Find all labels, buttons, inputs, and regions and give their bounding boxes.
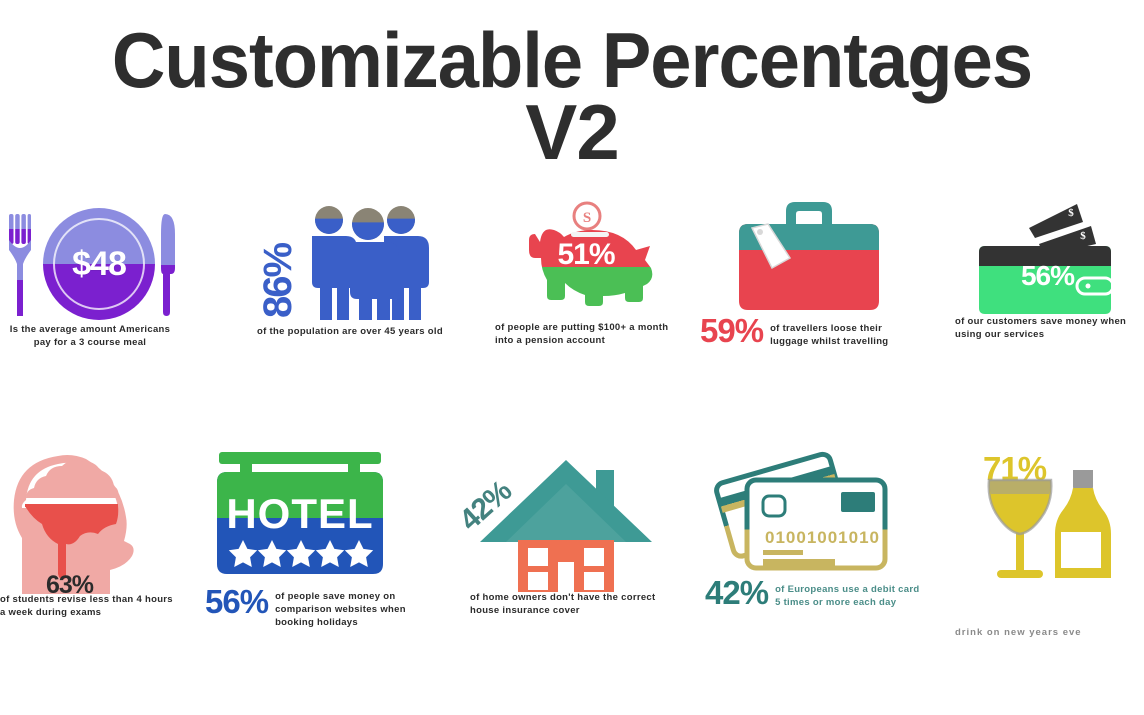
- stat-cell-house[interactable]: 42% of home owners don't have the correc…: [470, 448, 685, 638]
- hotel-sign-text: HOTEL: [226, 490, 373, 537]
- cards-shape: 01001001010: [705, 448, 920, 578]
- piggy-bank-coin-icon: S 51%: [495, 200, 685, 320]
- sign-top-bar: [219, 452, 381, 464]
- infographic-canvas: Customizable Percentages V2 $48: [0, 0, 1144, 715]
- stat-cell-hotel[interactable]: HOTEL 56% of people save money on compar…: [205, 448, 435, 638]
- caption: of travellers loose their luggage whilst…: [770, 314, 910, 349]
- knife-icon: [161, 214, 179, 316]
- caption: of Europeans use a debit card 5 times or…: [775, 576, 925, 610]
- card-digits: 01001001010: [765, 528, 880, 547]
- wallet-banknotes-icon: $ $ 56%: [955, 198, 1135, 318]
- house-roof-windows-icon: 42%: [470, 448, 670, 598]
- drinks-shape: [955, 470, 1144, 605]
- caption: of people are putting $100+ a month into…: [495, 322, 685, 348]
- fork-icon: [9, 214, 31, 316]
- stat-cell-people[interactable]: 86%: [250, 200, 450, 350]
- wallet-shape: $ $: [955, 198, 1135, 318]
- people-value: 86%: [256, 244, 301, 318]
- piggy-slot: [571, 232, 609, 237]
- bottle-label: [1061, 532, 1101, 568]
- stat-cell-head-brain[interactable]: 63% of students revise less than 4 hours…: [0, 448, 190, 638]
- suitcase-handle: [786, 202, 832, 225]
- title-line-1: Customizable Percentages: [29, 24, 1116, 97]
- caption: drink on new years eve: [955, 627, 1144, 640]
- head-profile-brain-icon: 63%: [0, 448, 180, 598]
- card-front: 01001001010: [747, 480, 885, 568]
- cards-value: 42%: [705, 576, 768, 609]
- wine-glass-icon: [989, 480, 1052, 578]
- wallet-value: 56%: [985, 260, 1110, 292]
- coin-icon: S: [574, 203, 600, 229]
- suitcase-luggage-tag-icon: [700, 198, 915, 316]
- house-door: [558, 562, 574, 592]
- stat-cell-wallet[interactable]: $ $ 56% of our customers save money when…: [955, 198, 1144, 348]
- stat-cell-plate[interactable]: $48 Is the average amount Americans pay …: [0, 200, 190, 350]
- caption: of the population are over 45 years old: [250, 326, 450, 339]
- svg-text:$: $: [1068, 207, 1074, 219]
- piggy-value: 51%: [521, 238, 651, 272]
- suitcase-shape: [700, 198, 915, 316]
- three-people-icon: 86%: [250, 200, 450, 320]
- hotel-sign-stars-icon: HOTEL: [205, 448, 405, 583]
- svg-text:S: S: [583, 210, 591, 226]
- hotel-sign-shape: HOTEL: [205, 448, 405, 583]
- caption: Is the average amount Americans pay for …: [0, 324, 180, 350]
- hotel-value: 56%: [205, 585, 268, 618]
- stat-cell-debit-cards[interactable]: 01001001010 42% of Europeans use a debit…: [705, 448, 935, 638]
- stat-cell-suitcase[interactable]: 59% of travellers loose their luggage wh…: [700, 198, 915, 348]
- suitcase-value: 59%: [700, 314, 763, 347]
- plate-fork-knife-icon: $48: [5, 200, 185, 320]
- stat-cell-drinks[interactable]: 71% drink on new years eve: [955, 448, 1144, 638]
- plate-value: $48: [43, 208, 155, 320]
- card-logo-block: [841, 492, 875, 512]
- house-shape: [470, 448, 670, 598]
- stat-cell-piggy-bank[interactable]: S 51% of people are putting $100+ a mont…: [495, 200, 695, 350]
- credit-cards-icon: 01001001010: [705, 448, 920, 578]
- wine-glass-bottle-icon: 71%: [955, 448, 1144, 583]
- head-value: 63%: [46, 571, 93, 600]
- people-figures: [302, 202, 452, 320]
- caption: of people save money on comparison websi…: [275, 585, 415, 629]
- caption: of our customers save money when using o…: [955, 316, 1135, 342]
- svg-text:$: $: [1080, 230, 1086, 242]
- page-title: Customizable Percentages V2: [0, 24, 1144, 171]
- wine-bottle-icon: [1055, 470, 1111, 578]
- title-line-2: V2: [0, 93, 1144, 171]
